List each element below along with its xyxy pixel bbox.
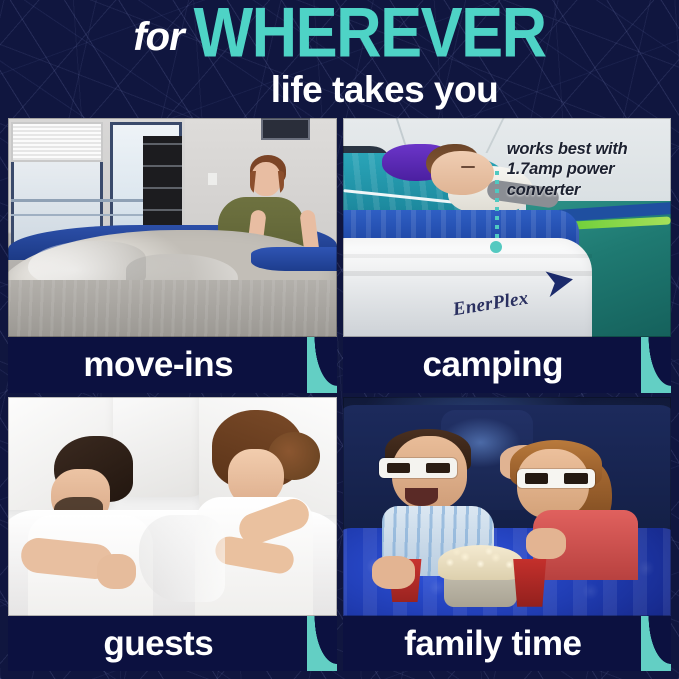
headline-block: forWHEREVER life takes you <box>0 6 679 110</box>
label-band-guests: guests <box>8 616 337 672</box>
headline-line-2: life takes you <box>0 71 679 110</box>
label-move-ins: move-ins <box>83 347 233 382</box>
headline-emphasis: WHEREVER <box>194 0 546 69</box>
feature-cell-camping[interactable]: works best with 1.7amp power converter E… <box>343 118 672 393</box>
teal-wing-accent-icon <box>641 337 671 393</box>
label-family-time: family time <box>404 626 581 661</box>
label-band-camping: camping <box>343 337 672 393</box>
photo-family-time <box>343 397 672 616</box>
headline-prefix: for <box>133 17 183 57</box>
photo-guests <box>8 397 337 616</box>
teal-wing-accent-icon <box>307 616 337 672</box>
feature-cell-guests[interactable]: guests <box>8 397 337 672</box>
label-band-family-time: family time <box>343 616 672 672</box>
feature-cell-move-ins[interactable]: move-ins <box>8 118 337 393</box>
photo-inner-border <box>8 118 337 337</box>
teal-wing-accent-icon <box>307 337 337 393</box>
product-marketing-poster: forWHEREVER life takes you <box>0 0 679 679</box>
feature-grid: move-ins <box>8 118 671 671</box>
photo-inner-border <box>343 397 672 616</box>
label-band-move-ins: move-ins <box>8 337 337 393</box>
photo-move-ins <box>8 118 337 337</box>
photo-camping: works best with 1.7amp power converter E… <box>343 118 672 337</box>
label-camping: camping <box>423 347 563 382</box>
photo-inner-border <box>8 397 337 616</box>
teal-wing-accent-icon <box>641 616 671 672</box>
photo-inner-border <box>343 118 672 337</box>
label-guests: guests <box>103 626 213 661</box>
headline-line-1: forWHEREVER <box>0 6 679 69</box>
feature-cell-family-time[interactable]: family time <box>343 397 672 672</box>
